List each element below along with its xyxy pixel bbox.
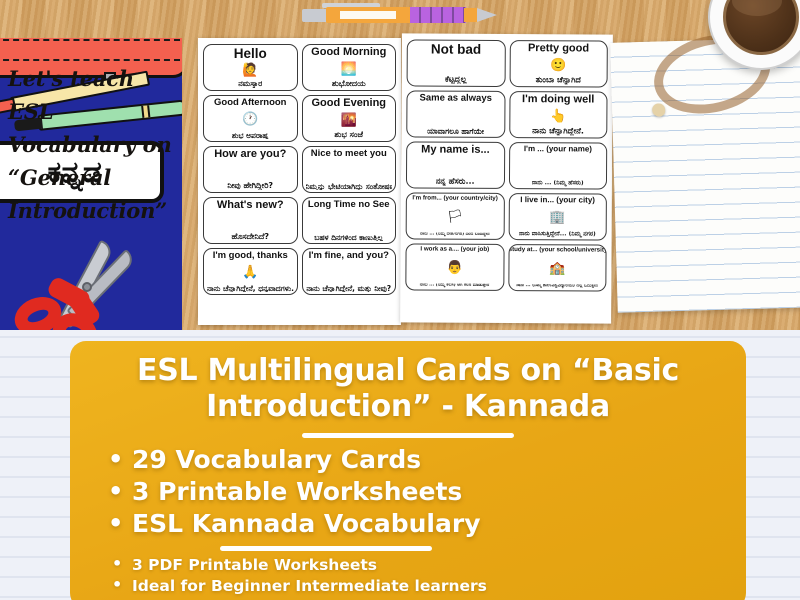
divider-bottom <box>220 546 432 551</box>
card-emoji-icon: 👆 <box>550 110 566 123</box>
card-emoji-icon <box>453 160 457 173</box>
promo-banner: ESL Multilingual Cards on “Basic Introdu… <box>70 341 746 600</box>
card-english-term: I'm from... (your country/city) <box>412 195 497 202</box>
card-kannada-term: ನಾನು ಚೆನ್ನಾಗಿದ್ದೇನೆ, ಮತ್ತು ನೀವು? <box>306 285 391 293</box>
poster-canvas: ಕನ್ನಡ Hello🙋ನಮಸ್ಕಾರGood Morning🌅ಶುಭೋದಯGo… <box>0 0 800 600</box>
card-english-term: Not bad <box>431 43 481 57</box>
card-kannada-term: ನಾನು ವಾಸಿಸುತ್ತಿದ್ದೇನೆ... (ನಿಮ್ಮ ನಗರ) <box>519 231 596 237</box>
note-line: Introduction” <box>8 194 218 227</box>
card-kannada-term: ಶುಭ ಅಪರಾಹ್ನ <box>232 132 269 140</box>
card-emoji-icon <box>248 216 252 229</box>
card-emoji-icon: 🌇 <box>341 114 357 127</box>
worksheet-sheet-right: Not bad ಕೆಟ್ಟದ್ದಲ್ಲPretty good🙂ತುಂಬಾ ಚೆನ… <box>400 33 613 323</box>
card-kannada-term: ತುಂಬಾ ಚೆನ್ನಾಗಿದೆ <box>536 76 581 84</box>
note-line: Vocabulary on <box>8 128 218 161</box>
card-english-term: Nice to meet you <box>311 149 387 159</box>
card-english-term: I'm ... (your name) <box>524 145 592 153</box>
card-kannada-term: ಹೊಸದೇನಿದೆ? <box>231 233 269 241</box>
card-kannada-term: ಕೆಟ್ಟದ್ದಲ್ಲ <box>445 76 467 84</box>
card-emoji-icon: 🏢 <box>549 211 565 224</box>
card-emoji-icon: 🙏 <box>242 266 258 279</box>
card-kannada-term: ನಾನು ... (ನಿಮ್ಮ ಶಾಲೆ/ವಿಶ್ವವಿದ್ಯಾಲಯ) ದಲ್ಲ… <box>516 284 598 289</box>
vocabulary-card: I study at... (your school/university)🏫ನ… <box>508 244 607 292</box>
vocabulary-card: I'm doing well👆ನಾನು ಚೆನ್ನಾಗಿದ್ದೇನೆ. <box>509 91 608 139</box>
scissors-icon <box>8 236 148 330</box>
divider-top <box>302 433 514 438</box>
bullet-item: ESL Kannada Vocabulary <box>104 508 730 540</box>
vocabulary-card: Nice to meet you ನಿಮ್ಮನ್ನು ಭೇಟಿಯಾಗಿದ್ದು … <box>302 146 397 193</box>
vocabulary-card: I'm ... (your name) ನಾನು ... (ನಿಮ್ಮ ಹೆಸರ… <box>508 142 607 190</box>
worksheet-sheet-left: Hello🙋ನಮಸ್ಕಾರGood Morning🌅ಶುಭೋದಯGood Aft… <box>198 38 401 325</box>
vocabulary-card: Same as always ಯಾವಾಗಲೂ ಹಾಗೆಯೇ <box>406 90 505 138</box>
card-emoji-icon: 🕐 <box>242 113 258 126</box>
card-emoji-icon: 🌅 <box>341 63 357 76</box>
handwritten-note <box>610 37 800 312</box>
vocabulary-card-grid-right: Not bad ಕೆಟ್ಟದ್ದಲ್ಲPretty good🙂ತುಂಬಾ ಚೆನ… <box>405 39 608 291</box>
vocabulary-card-grid-left: Hello🙋ನಮಸ್ಕಾರGood Morning🌅ಶುಭೋದಯGood Aft… <box>203 44 396 295</box>
vocabulary-card: I'm good, thanks🙏ನಾನು ಚೆನ್ನಾಗಿದ್ದೇನೆ, ಧನ… <box>203 248 298 295</box>
card-english-term: I'm fine, and you? <box>309 251 389 261</box>
card-english-term: I'm good, thanks <box>213 251 288 261</box>
card-emoji-icon <box>454 59 458 72</box>
vocabulary-card: Long Time no See ಬಹಳ ದಿನಗಳಿಂದ ಕಾಣುತ್ತಿಲ್… <box>302 197 397 244</box>
orange-purple-pen-icon <box>302 5 498 23</box>
card-english-term: Hello <box>234 47 267 61</box>
card-kannada-term: ಯಾವಾಗಲೂ ಹಾಗೆಯೇ <box>427 127 484 135</box>
card-english-term: I'm doing well <box>522 94 594 105</box>
handwritten-note-text: Let's teachESLVocabulary on“GeneralIntro… <box>8 62 218 227</box>
card-kannada-term: ನಿಮ್ಮನ್ನು ಭೇಟಿಯಾಗಿದ್ದು ಸಂತೋಷವಾಯಿತು <box>306 183 393 191</box>
card-english-term: Pretty good <box>528 43 589 54</box>
bullet-item: 3 Printable Worksheets <box>104 476 730 508</box>
card-kannada-term: ನನ್ನ ಹೆಸರು... <box>436 178 475 186</box>
card-kannada-term: ನಮಸ್ಕಾರ <box>238 80 262 88</box>
feature-bullet-list: 29 Vocabulary Cards3 Printable Worksheet… <box>86 444 730 540</box>
vocabulary-card: Good Evening🌇ಶುಭ ಸಂಜೆ <box>302 95 397 142</box>
card-emoji-icon <box>454 109 458 122</box>
card-english-term: Good Morning <box>311 47 386 58</box>
bullet-item: Ideal for Beginner Intermediate learners <box>104 576 730 597</box>
detail-bullet-list: 3 PDF Printable WorksheetsIdeal for Begi… <box>86 555 730 597</box>
card-emoji-icon <box>347 266 351 279</box>
card-english-term: Same as always <box>420 93 492 103</box>
card-emoji-icon <box>556 160 560 173</box>
bullet-item: 29 Vocabulary Cards <box>104 444 730 476</box>
card-kannada-term: ನೀವು ಹೇಗಿದ್ದೀರಿ? <box>227 182 273 190</box>
card-kannada-term: ನಾನು ... (ನಿಮ್ಮ ಹೆಸರು) <box>532 180 584 186</box>
card-english-term: What's new? <box>217 200 284 211</box>
vocabulary-card: I'm fine, and you? ನಾನು ಚೆನ್ನಾಗಿದ್ದೇನೆ, … <box>302 248 397 295</box>
card-english-term: I live in... (your city) <box>520 196 595 204</box>
vocabulary-card: Not bad ಕೆಟ್ಟದ್ದಲ್ಲ <box>407 39 506 87</box>
card-kannada-term: ನಾನು ... (ನಿಮ್ಮ ದೇಶ/ನಗರ) ದಿಂದ ಬಂದಿದ್ದೇನೆ <box>420 232 490 237</box>
promo-title: ESL Multilingual Cards on “Basic Introdu… <box>86 353 730 425</box>
card-emoji-icon: 🙋 <box>242 64 258 77</box>
note-line: “General <box>8 161 218 194</box>
vocabulary-card: I live in... (your city)🏢ನಾನು ವಾಸಿಸುತ್ತಿ… <box>508 193 607 241</box>
vocabulary-card: My name is... ನನ್ನ ಹೆಸರು... <box>406 141 505 189</box>
card-emoji-icon: 👨 <box>447 262 463 275</box>
card-kannada-term: ಶುಭ ಸಂಜೆ <box>334 131 363 139</box>
card-english-term: I study at... (your school/university) <box>508 247 607 254</box>
card-kannada-term: ನಾನು ಚೆನ್ನಾಗಿದ್ದೇನೆ. <box>532 127 584 135</box>
card-kannada-term: ಬಹಳ ದಿನಗಳಿಂದ ಕಾಣುತ್ತಿಲ್ಲ <box>314 234 383 242</box>
card-english-term: How are you? <box>214 149 286 160</box>
crumb-speck <box>652 103 665 116</box>
card-emoji-icon: 🏳 <box>447 211 464 224</box>
note-line: ESL <box>8 95 218 128</box>
card-kannada-term: ನಾನು ... (ನಿಮ್ಮ ಕೆಲಸ) ಆಗಿ ಕೆಲಸ ಮಾಡುತ್ತೇನ… <box>420 283 490 288</box>
card-kannada-term: ಶುಭೋದಯ <box>332 80 366 88</box>
card-emoji-icon <box>248 165 252 178</box>
card-kannada-term: ನಾನು ಚೆನ್ನಾಗಿದ್ದೇನೆ, ಧನ್ಯವಾದಗಳು. <box>207 285 294 293</box>
bullet-item: 3 PDF Printable Worksheets <box>104 555 730 576</box>
card-english-term: Good Evening <box>311 98 386 109</box>
card-english-term: Long Time no See <box>308 200 390 210</box>
card-english-term: My name is... <box>421 144 490 155</box>
card-emoji-icon <box>347 215 351 228</box>
vocabulary-card: Good Morning🌅ಶುಭೋದಯ <box>302 44 397 91</box>
vocabulary-card: I'm from... (your country/city)🏳ನಾನು ...… <box>406 192 505 240</box>
vocabulary-card: Pretty good🙂ತುಂಬಾ ಚೆನ್ನಾಗಿದೆ <box>509 40 608 88</box>
card-emoji-icon: 🏫 <box>549 262 565 275</box>
card-emoji-icon <box>347 164 351 177</box>
card-english-term: I work as a.... (your job) <box>420 246 489 253</box>
note-line: Let's teach <box>8 62 218 95</box>
vocabulary-card: I work as a.... (your job)👨ನಾನು ... (ನಿಮ… <box>405 243 504 291</box>
card-emoji-icon: 🙂 <box>550 59 566 72</box>
card-english-term: Good Afternoon <box>214 98 286 108</box>
